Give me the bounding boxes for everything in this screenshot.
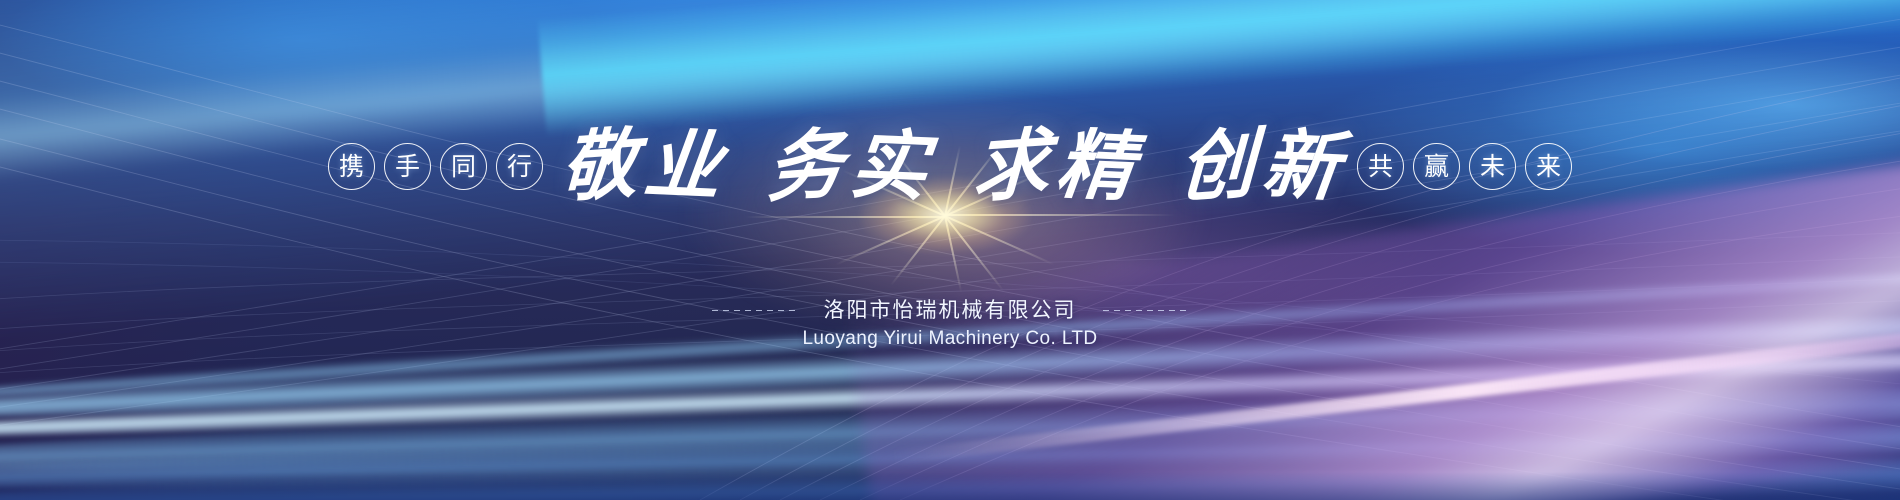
circled-character: 来 (1525, 143, 1572, 190)
slogan-glyph: 创 (1178, 125, 1258, 207)
slogan-glyph: 求 (972, 125, 1052, 207)
circled-character: 行 (496, 143, 543, 190)
banner-content: 携 手 同 行 敬 业 务 实 求 精 创 (0, 0, 1900, 500)
slogan-glyph: 务 (766, 125, 846, 207)
circled-character: 携 (328, 143, 375, 190)
circled-character: 手 (384, 143, 431, 190)
slogan-glyph: 新 (1259, 126, 1346, 205)
headline-row: 携 手 同 行 敬 业 务 实 求 精 创 (0, 128, 1900, 204)
circled-character: 赢 (1413, 143, 1460, 190)
left-circled-characters: 携 手 同 行 (328, 143, 543, 190)
slogan-word: 务 实 (767, 128, 929, 204)
banner-hero: 携 手 同 行 敬 业 务 实 求 精 创 (0, 0, 1900, 500)
slogan-word: 求 精 (973, 128, 1135, 204)
divider-dashed-left (712, 310, 798, 311)
subtitle-block: 洛阳市怡瑞机械有限公司 Luoyang Yirui Machinery Co. … (0, 296, 1900, 353)
circled-character: 未 (1469, 143, 1516, 190)
slogan-glyph: 实 (847, 126, 934, 205)
slogan-calligraphy: 敬 业 务 实 求 精 创 新 (561, 128, 1341, 204)
slogan-glyph: 业 (641, 126, 728, 205)
right-circled-characters: 共 赢 未 来 (1357, 143, 1572, 190)
company-name-cn: 洛阳市怡瑞机械有限公司 (824, 296, 1077, 324)
slogan-glyph: 精 (1053, 126, 1140, 205)
circled-character: 同 (440, 143, 487, 190)
slogan-word: 创 新 (1179, 128, 1341, 204)
company-name-en: Luoyang Yirui Machinery Co. LTD (802, 326, 1097, 353)
circled-character: 共 (1357, 143, 1404, 190)
divider-dashed-right (1103, 310, 1189, 311)
company-name-row: 洛阳市怡瑞机械有限公司 (712, 296, 1189, 324)
slogan-word: 敬 业 (561, 128, 723, 204)
slogan-glyph: 敬 (560, 125, 640, 207)
